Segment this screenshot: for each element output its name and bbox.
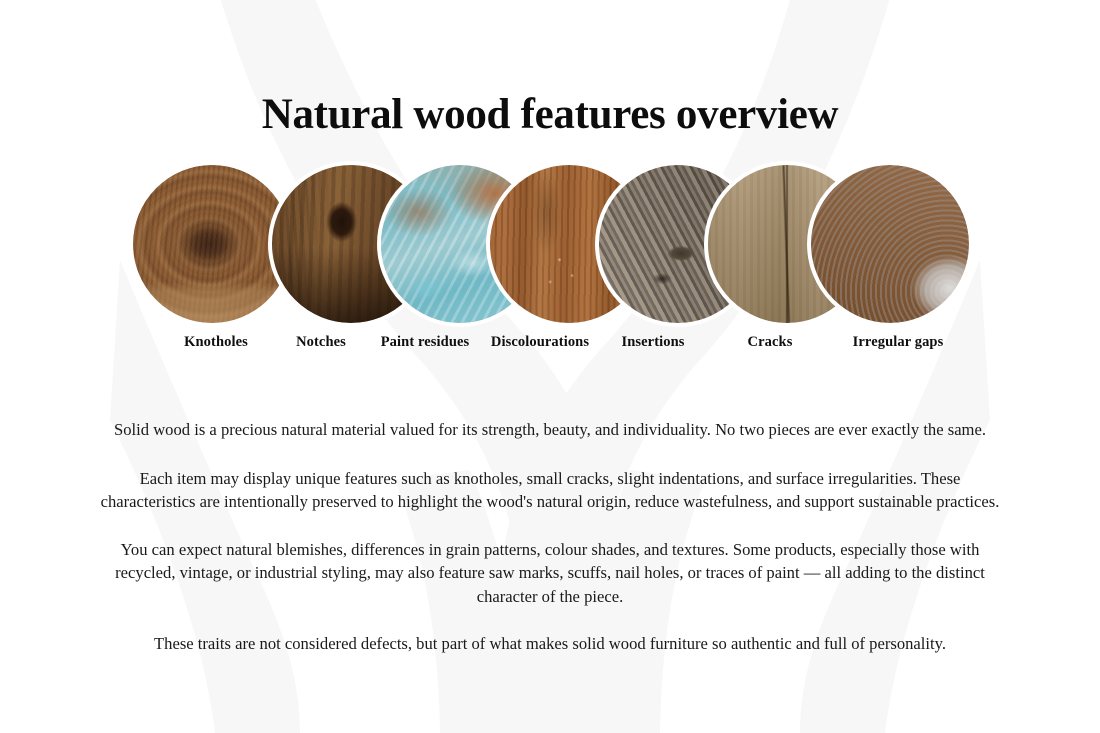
feature-label-knotholes: Knotholes [184, 334, 248, 351]
feature-label-paint-residues: Paint residues [381, 334, 470, 351]
feature-label-cracks: Cracks [748, 334, 793, 351]
page-title: Natural wood features overview [0, 91, 1100, 138]
body-paragraph-1: Solid wood is a precious natural materia… [100, 418, 1000, 442]
feature-labels-row: Knotholes Notches Paint residues Discolo… [133, 334, 969, 356]
feature-item-knotholes[interactable] [133, 165, 291, 323]
feature-image-knotholes [133, 165, 291, 323]
feature-label-notches: Notches [296, 334, 346, 351]
body-copy: Solid wood is a precious natural materia… [100, 418, 1000, 656]
feature-image-irregular-gaps [811, 165, 969, 323]
feature-label-discolourations: Discolourations [491, 334, 589, 351]
feature-circles-strip [133, 165, 969, 355]
feature-item-irregular-gaps[interactable] [811, 165, 969, 323]
feature-label-insertions: Insertions [621, 334, 684, 351]
body-paragraph-2: Each item may display unique features su… [100, 467, 1000, 514]
body-paragraph-4: These traits are not considered defects,… [100, 632, 1000, 656]
feature-label-irregular-gaps: Irregular gaps [853, 334, 944, 351]
body-paragraph-3: You can expect natural blemishes, differ… [100, 538, 1000, 609]
page-root: Natural wood features overview [0, 0, 1100, 733]
